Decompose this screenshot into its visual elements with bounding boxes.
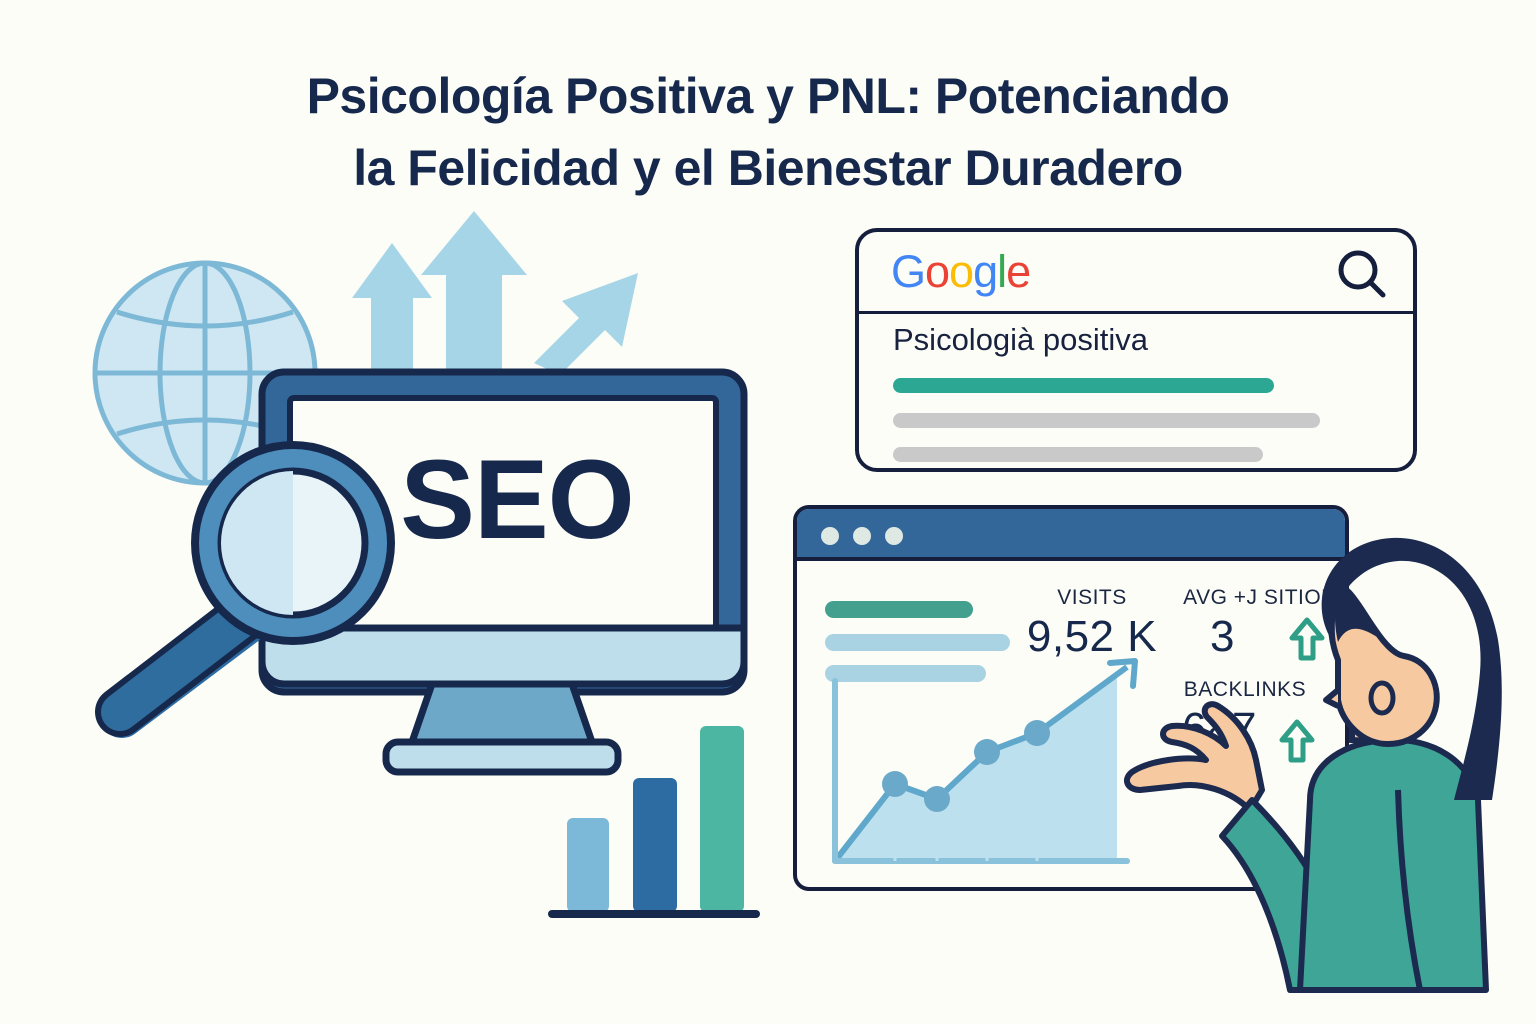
metric-visits-value: 9,52 K — [1012, 610, 1172, 664]
chart-data-point — [1024, 720, 1050, 746]
chart-data-point — [974, 739, 1000, 765]
google-letter-g2: g — [973, 246, 997, 297]
metric-visits-label: VISITS — [1012, 586, 1172, 610]
google-letter-o2: o — [949, 246, 973, 297]
arrow-up-icon — [352, 243, 432, 377]
seo-screen-text: SEO — [352, 440, 682, 560]
chart-data-point — [882, 771, 908, 797]
bar-chart-baseline — [548, 910, 760, 918]
search-result-bar-placeholder[interactable] — [893, 413, 1320, 428]
metric-visits: VISITS 9,52 K — [1012, 586, 1172, 664]
arrow-up-icon-large — [421, 211, 527, 377]
google-letter-l: l — [997, 246, 1006, 297]
bar-3 — [700, 726, 744, 912]
search-query-text[interactable]: Psicologià positiva — [893, 322, 1148, 358]
arrow-up-right-icon — [534, 273, 638, 375]
illustration-canvas: Psicología Positiva y PNL: Potenciando l… — [0, 0, 1536, 1024]
chart-data-point — [924, 786, 950, 812]
google-letter-g1: G — [891, 246, 925, 297]
metric-backlinks-label: BACKLINKS — [1160, 678, 1330, 702]
search-result-bar-placeholder[interactable] — [893, 447, 1263, 462]
google-letter-e: e — [1006, 246, 1030, 297]
bar-1 — [567, 818, 609, 912]
trend-up-arrow-icon — [1277, 718, 1317, 769]
trend-up-arrow-icon — [1287, 616, 1327, 667]
search-result-bar-highlighted[interactable] — [893, 378, 1274, 393]
google-logo: Google — [891, 246, 1030, 298]
google-search-card[interactable]: Google Psicologià positiva — [855, 228, 1417, 472]
search-icon[interactable] — [1333, 246, 1391, 309]
metric-avg-position-label: AVG +J SITION — [1170, 586, 1350, 610]
bar-2 — [633, 778, 677, 912]
google-letter-o1: o — [925, 246, 949, 297]
